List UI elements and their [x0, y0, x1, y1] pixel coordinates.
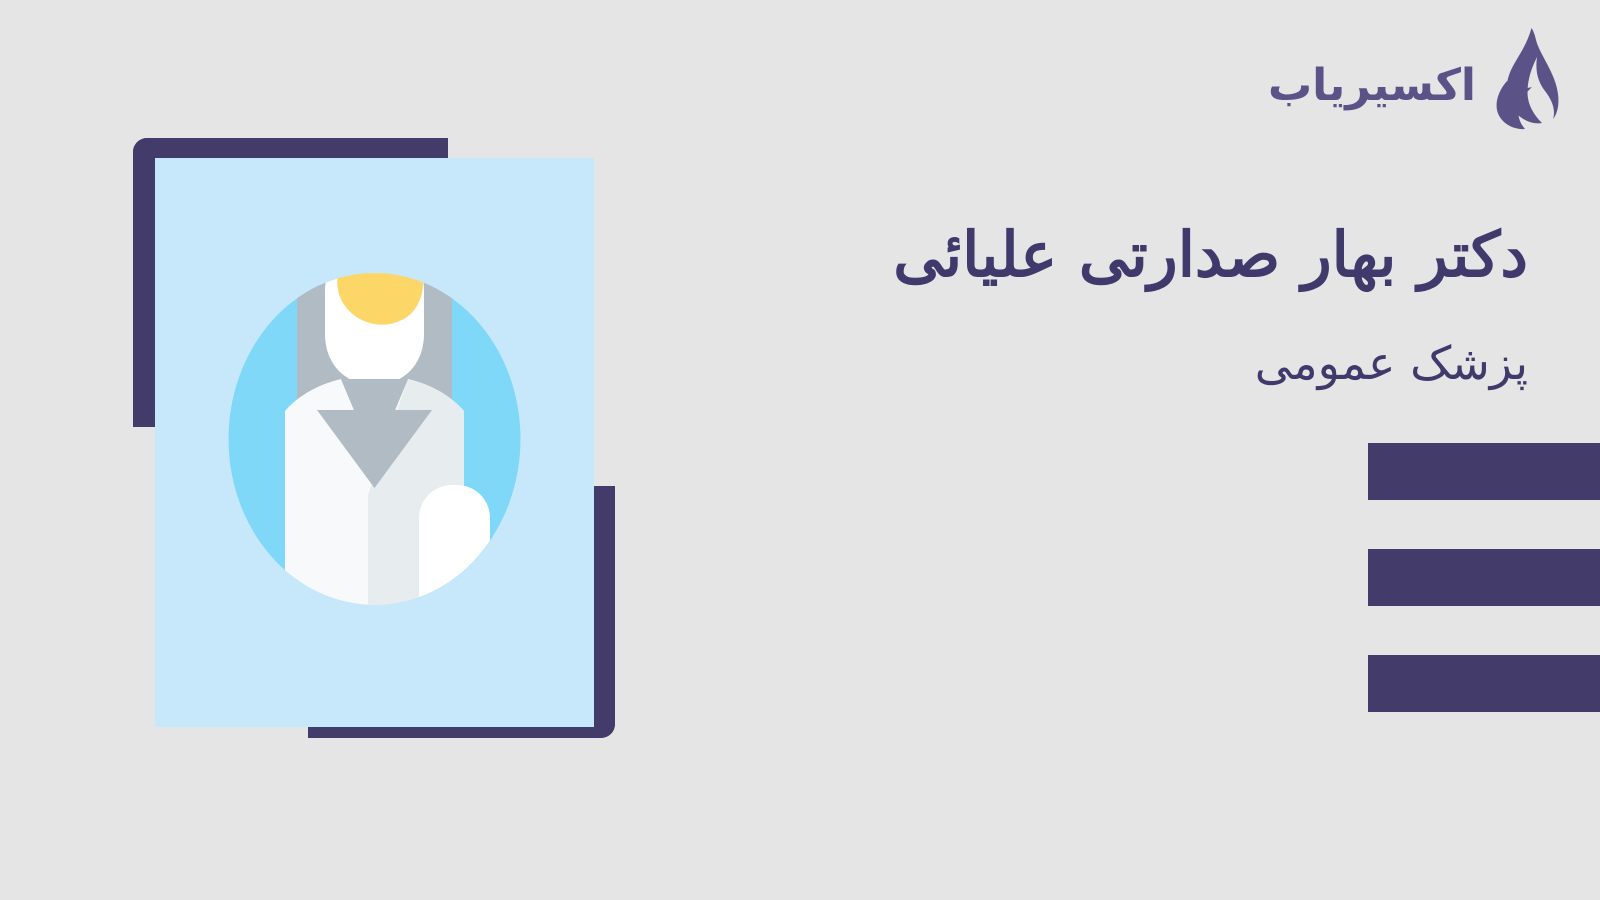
doctor-name: دکتر بهار صدارتی علیائی	[708, 218, 1528, 291]
decorative-bar-1	[1368, 443, 1600, 500]
profile-banner: اکسیریاب دکتر بهار صدارتی علیائی پزشک عم…	[0, 0, 1600, 900]
flame-drop-icon	[1486, 26, 1560, 130]
decorative-bar-2	[1368, 549, 1600, 606]
decorative-bar-3	[1368, 655, 1600, 712]
photo-plate	[155, 158, 594, 727]
female-doctor-avatar-icon	[155, 158, 594, 727]
brand-name: اکسیریاب	[1268, 64, 1476, 108]
doctor-specialty: پزشک عمومی	[708, 336, 1528, 391]
brand-logo[interactable]: اکسیریاب	[1268, 26, 1560, 130]
doctor-photo-card	[0, 0, 700, 900]
